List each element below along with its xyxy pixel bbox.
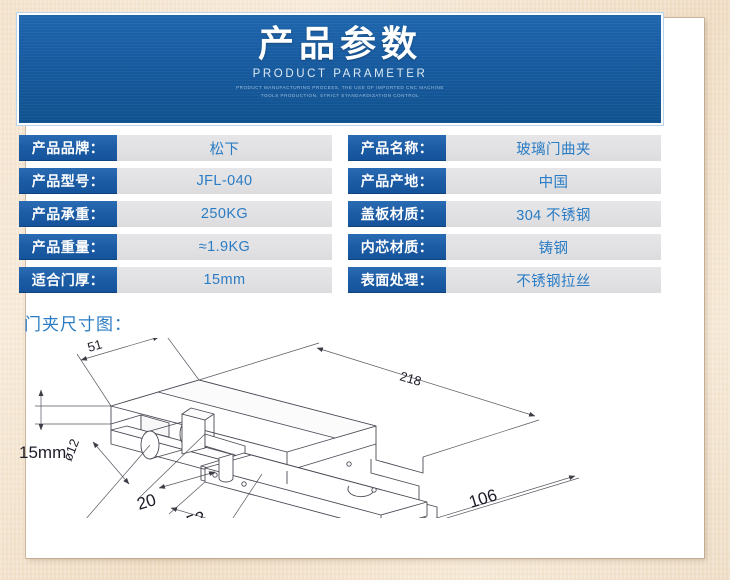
dimension-drawing: 51 218 15mm ø12 20 52 106 — [19, 338, 661, 518]
table-row: 产品品牌： 松下 — [19, 135, 332, 161]
drawing-section-title: 门夹尺寸图： — [24, 310, 132, 335]
dimension-label-thickness: 15mm — [19, 443, 66, 462]
table-row: 表面处理： 不锈钢拉丝 — [348, 267, 661, 293]
product-parameter-page: 产品参数 PRODUCT PARAMETER PRODUCT MANUFACTU… — [0, 0, 730, 580]
spec-table-right-column: 产品名称： 玻璃门曲夹 产品产地： 中国 盖板材质： 304 不锈钢 内芯材质：… — [348, 135, 661, 300]
spec-label: 盖板材质： — [348, 201, 446, 227]
clamp-isometric-svg: 51 218 15mm ø12 20 52 106 — [19, 338, 661, 518]
spec-label: 产品型号： — [19, 168, 117, 194]
spec-label: 内芯材质： — [348, 234, 446, 260]
spec-label: 产品重量： — [19, 234, 117, 260]
dimension-label-hole-diameter: ø12 — [60, 437, 82, 463]
dimension-label-width-top: 51 — [86, 338, 104, 355]
dimension-label-offset: 20 — [135, 490, 159, 514]
spec-value: 松下 — [117, 135, 332, 161]
spec-value: 15mm — [117, 267, 332, 293]
spec-label: 产品承重： — [19, 201, 117, 227]
spec-label: 产品品牌： — [19, 135, 117, 161]
spec-label: 产品产地： — [348, 168, 446, 194]
header-caption-line-2: TOOLS PRODUCTION, STRICT STANDARDIZATION… — [19, 92, 661, 100]
table-row: 内芯材质： 铸钢 — [348, 234, 661, 260]
table-row: 产品名称： 玻璃门曲夹 — [348, 135, 661, 161]
table-row: 产品产地： 中国 — [348, 168, 661, 194]
table-row: 产品重量： ≈1.9KG — [19, 234, 332, 260]
header-banner: 产品参数 PRODUCT PARAMETER PRODUCT MANUFACTU… — [17, 13, 663, 125]
header-caption-line-1: PRODUCT MANUFACTURING PROCESS, THE USE O… — [19, 84, 661, 92]
page-subtitle: PRODUCT PARAMETER — [19, 68, 661, 80]
table-row: 适合门厚： 15mm — [19, 267, 332, 293]
spec-value: 中国 — [446, 168, 661, 194]
spec-value: 铸钢 — [446, 234, 661, 260]
spec-label: 适合门厚： — [19, 267, 117, 293]
page-title: 产品参数 — [19, 25, 661, 64]
table-row: 盖板材质： 304 不锈钢 — [348, 201, 661, 227]
spec-table: 产品品牌： 松下 产品型号： JFL-040 产品承重： 250KG 产品重量：… — [19, 135, 661, 300]
header-caption: PRODUCT MANUFACTURING PROCESS, THE USE O… — [19, 84, 661, 100]
spec-value: JFL-040 — [117, 168, 332, 194]
spec-value: 250KG — [117, 201, 332, 227]
table-row: 产品承重： 250KG — [19, 201, 332, 227]
spec-value: 304 不锈钢 — [446, 201, 661, 227]
spec-value: 不锈钢拉丝 — [446, 267, 661, 293]
table-row: 产品型号： JFL-040 — [19, 168, 332, 194]
spec-value: ≈1.9KG — [117, 234, 332, 260]
dimension-label-base-depth: 52 — [184, 507, 208, 518]
spec-label: 产品名称： — [348, 135, 446, 161]
clamp-body-outline — [111, 380, 437, 518]
spec-table-left-column: 产品品牌： 松下 产品型号： JFL-040 产品承重： 250KG 产品重量：… — [19, 135, 332, 300]
dimension-label-length: 218 — [398, 368, 423, 388]
spec-value: 玻璃门曲夹 — [446, 135, 661, 161]
spec-label: 表面处理： — [348, 267, 446, 293]
dimension-label-base-length: 106 — [467, 485, 500, 511]
